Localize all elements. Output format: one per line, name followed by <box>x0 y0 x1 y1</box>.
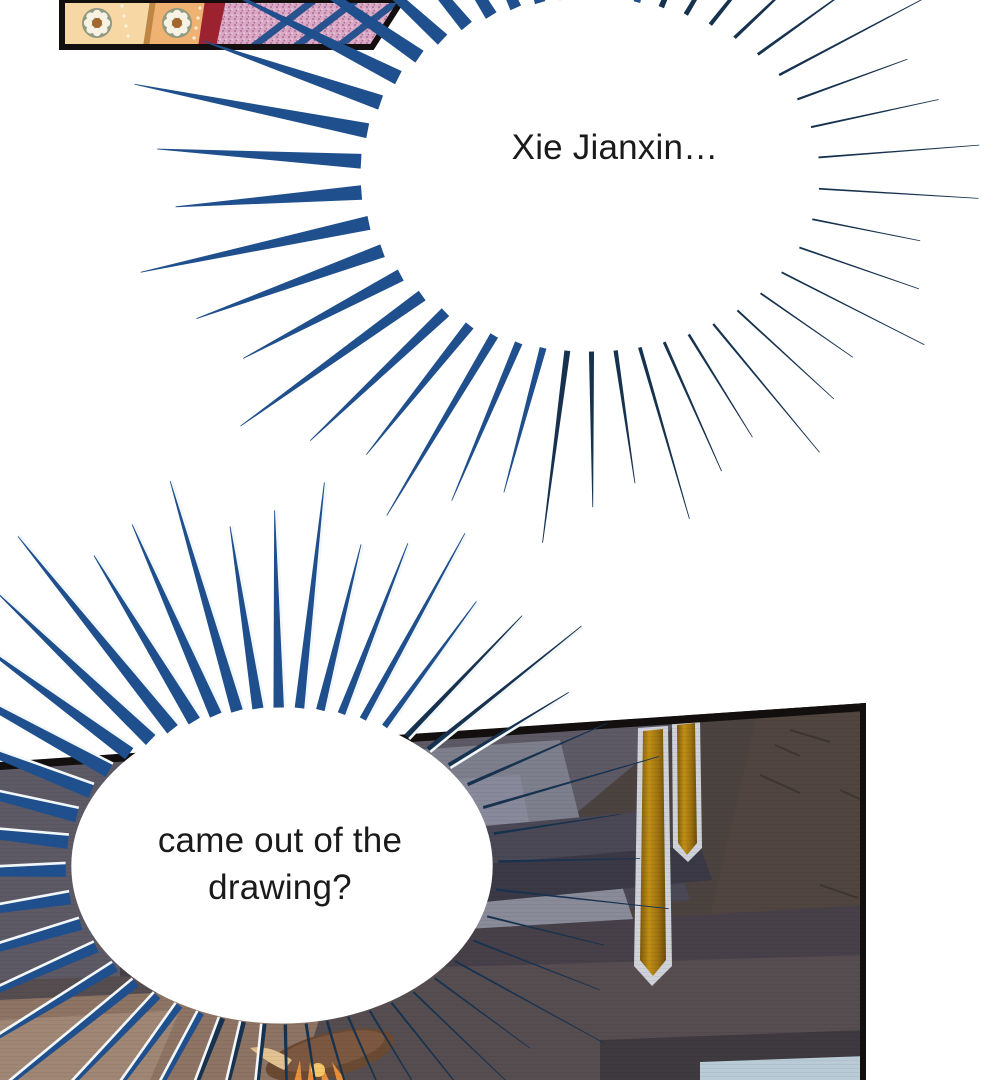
impact-burst-top <box>134 0 979 543</box>
impact-burst-layer <box>0 0 1000 1080</box>
impact-burst-bottom <box>0 480 669 1080</box>
comic-page: Xie Jianxin… came out of the drawing? <box>0 0 1000 1080</box>
